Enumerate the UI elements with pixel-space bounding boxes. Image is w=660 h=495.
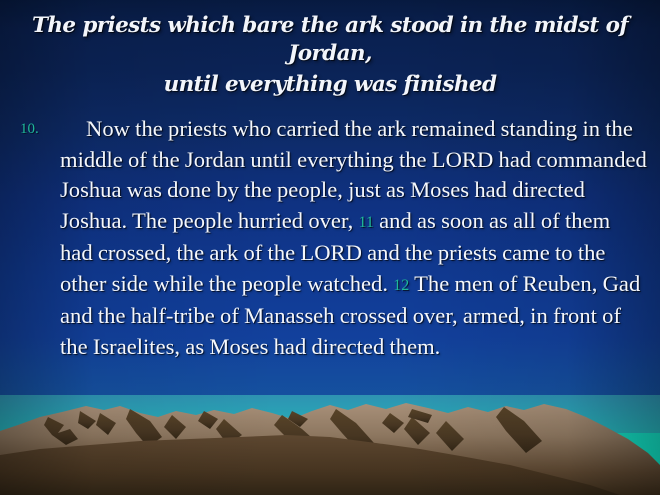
- presentation-slide: The priests which bare the ark stood in …: [0, 0, 660, 495]
- landscape-graphic: [0, 395, 660, 495]
- scripture-paragraph: Now the priests who carried the ark rema…: [60, 114, 648, 362]
- verse-number-11: 11: [358, 214, 373, 231]
- title-line-2: until everything was finished: [26, 71, 634, 99]
- verse-number-12: 12: [393, 277, 409, 294]
- slide-body: 10. Now the priests who carried the ark …: [14, 114, 648, 362]
- verse-marker-10: 10.: [14, 114, 60, 145]
- slide-title: The priests which bare the ark stood in …: [26, 12, 634, 99]
- title-line-1: The priests which bare the ark stood in …: [26, 12, 634, 67]
